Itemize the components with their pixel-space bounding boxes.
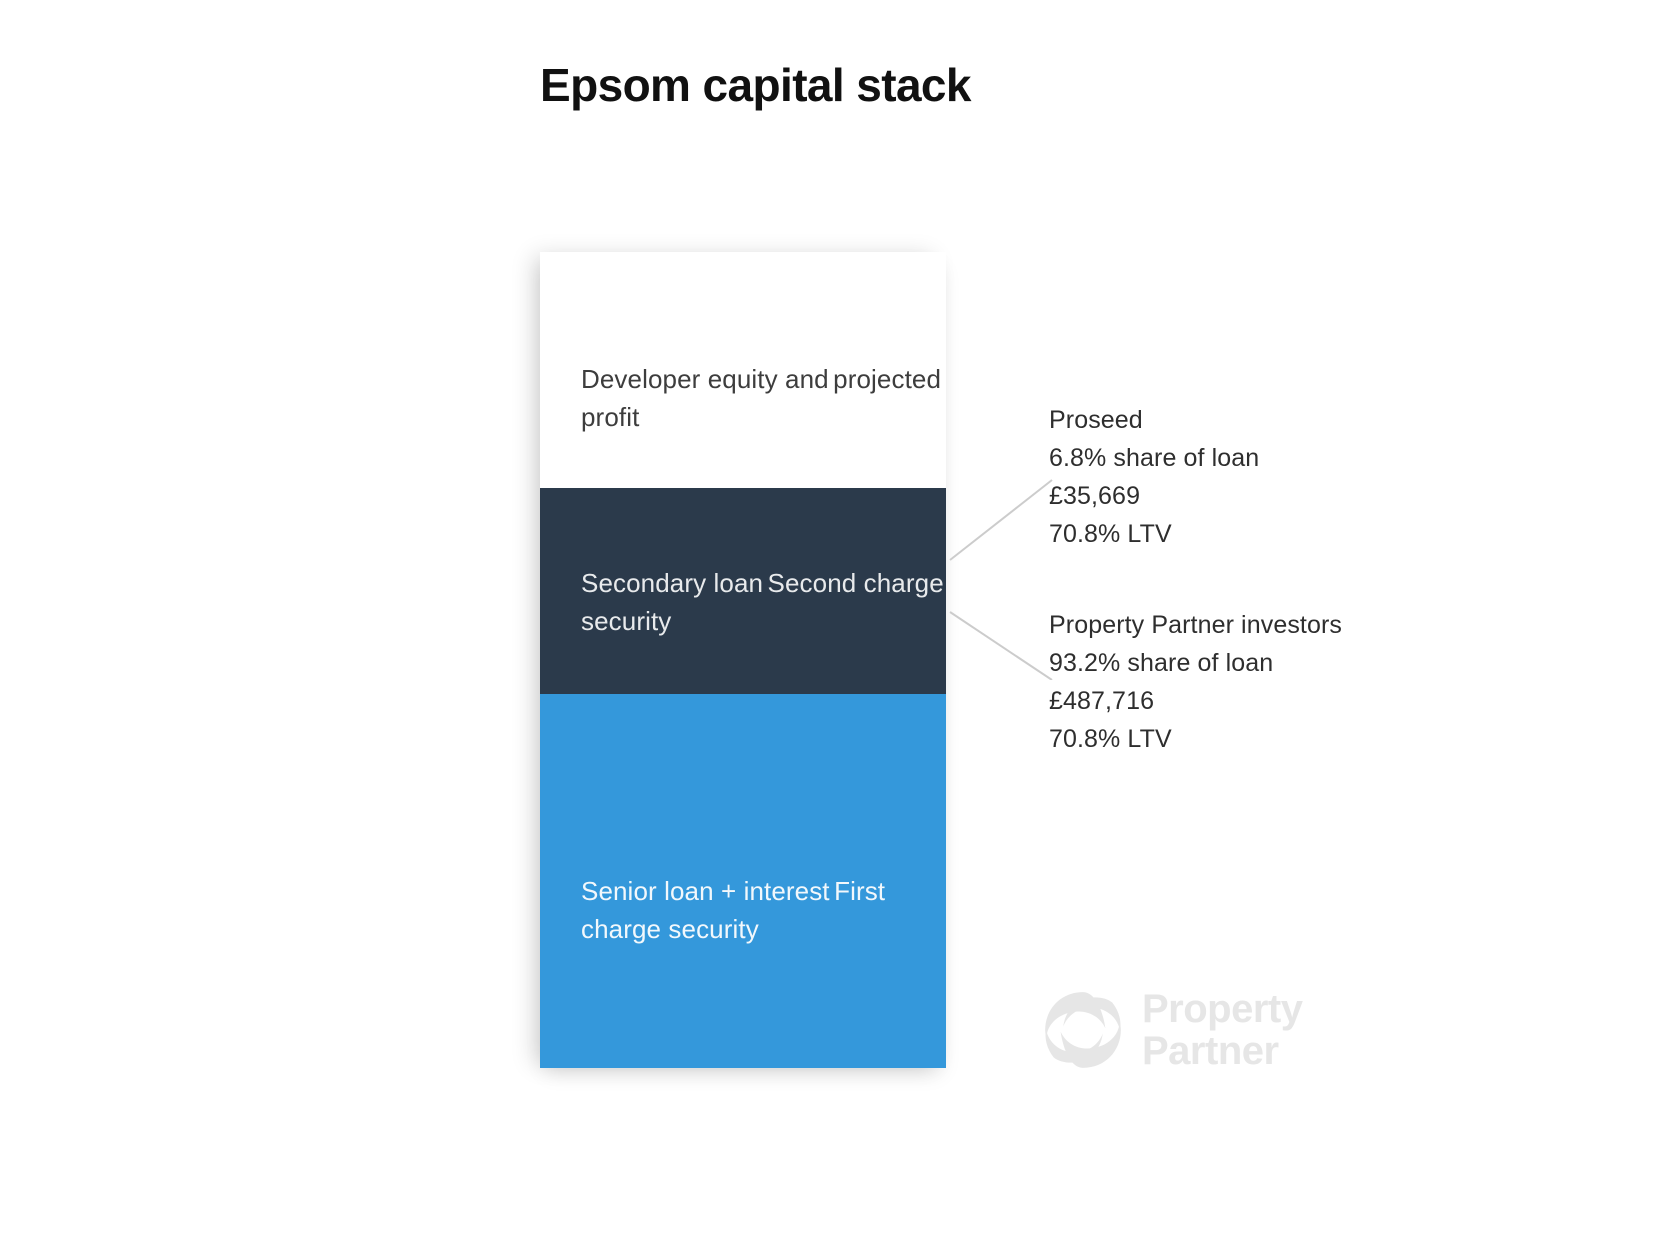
segment-label-line-1: Secondary loan (581, 568, 763, 598)
annotation-share-of-loan: 6.8% share of loan (1049, 439, 1259, 477)
annotation-share-of-loan: 93.2% share of loan (1049, 644, 1342, 682)
annotation-name: Proseed (1049, 401, 1259, 439)
segment-label-group: Developer equity and projected profit (581, 360, 946, 436)
logo-wordmark-line-1: Property (1142, 988, 1303, 1030)
stack-segment-secondary-loan: Secondary loan Second charge security (540, 488, 946, 694)
segment-label-group: Senior loan + interest First charge secu… (581, 872, 946, 948)
annotation-property-partner-investors: Property Partner investors 93.2% share o… (1049, 606, 1342, 758)
segment-label-line-1: Senior loan + interest (581, 876, 830, 906)
page-title: Epsom capital stack (540, 58, 971, 112)
annotation-proseed: Proseed 6.8% share of loan £35,669 70.8%… (1049, 401, 1259, 553)
annotation-amount: £487,716 (1049, 682, 1342, 720)
annotation-ltv: 70.8% LTV (1049, 515, 1259, 553)
connector-line-proseed (950, 480, 1052, 560)
segment-label-group: Secondary loan Second charge security (581, 564, 946, 640)
logo-wordmark-line-2: Partner (1142, 1030, 1303, 1072)
property-partner-swirl-icon (1040, 987, 1126, 1073)
capital-stack-card: Developer equity and projected profit Se… (540, 252, 946, 1068)
stack-segment-senior-loan: Senior loan + interest First charge secu… (540, 694, 946, 1068)
property-partner-logo: Property Partner (1040, 980, 1340, 1080)
connector-line-investors (950, 612, 1052, 680)
annotation-amount: £35,669 (1049, 477, 1259, 515)
annotation-name: Property Partner investors (1049, 606, 1342, 644)
logo-wordmark: Property Partner (1142, 988, 1303, 1072)
stack-segment-developer-equity: Developer equity and projected profit (540, 252, 946, 488)
annotation-ltv: 70.8% LTV (1049, 720, 1342, 758)
segment-label-line-1: Developer equity and (581, 364, 829, 394)
capital-stack-infographic: Epsom capital stack Developer equity and… (0, 0, 1653, 1235)
